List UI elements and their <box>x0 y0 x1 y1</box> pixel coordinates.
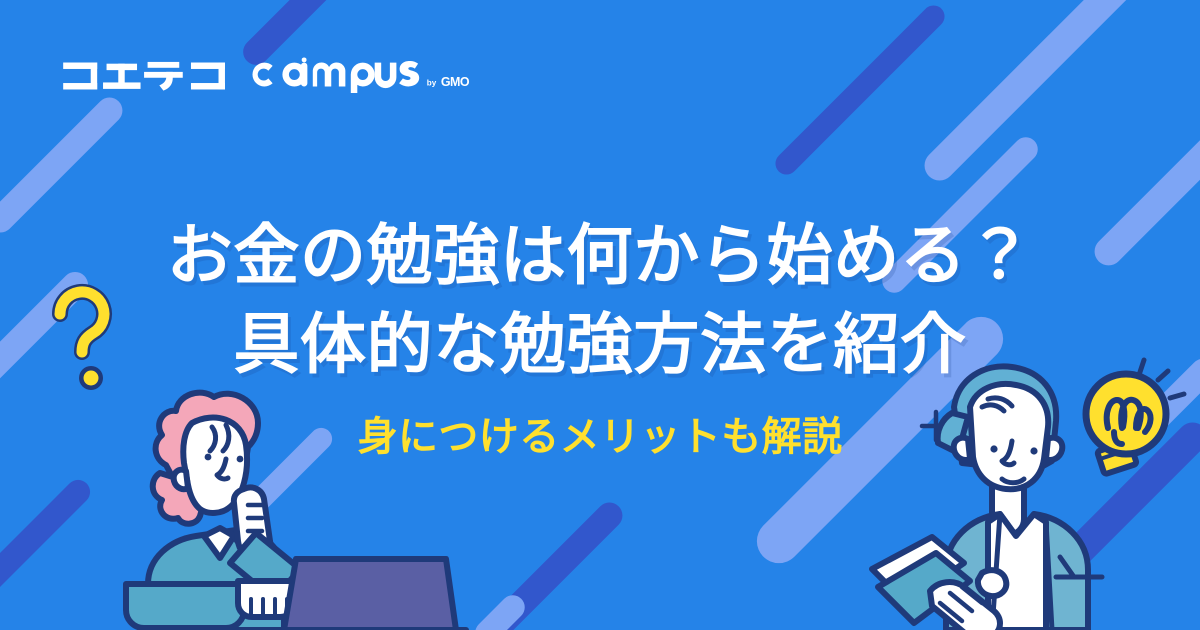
logo-byline-gmo: GMO <box>441 75 470 89</box>
page-subtitle: 身につけるメリットも解説 <box>0 413 1200 461</box>
stripe-center-low-dark <box>482 497 628 630</box>
logo-kana-koeteko-icon <box>62 59 238 93</box>
stripe-left-lower-dark <box>0 475 95 605</box>
stripe-center-low-light <box>470 590 529 630</box>
logo-byline-by: by <box>427 78 437 87</box>
logo-wordmark-campus-icon: by GMO <box>252 55 491 93</box>
page-title: お金の勉強は何から始める？ 具体的な勉強方法を紹介 <box>0 212 1200 389</box>
lightbulb-idea-icon <box>1058 358 1190 490</box>
ogp-card: by GMO お金の勉強は何から始める？ 具体的な勉強方法を紹介 身につけるメリ… <box>0 0 1200 630</box>
page-title-line-1: お金の勉強は何から始める？ <box>0 212 1200 300</box>
site-logo[interactable]: by GMO <box>62 55 491 93</box>
page-title-line-2: 具体的な勉強方法を紹介 <box>0 301 1200 389</box>
stripe-mid-right-dark <box>771 1 949 179</box>
stripe-top-right-light <box>918 0 1151 187</box>
